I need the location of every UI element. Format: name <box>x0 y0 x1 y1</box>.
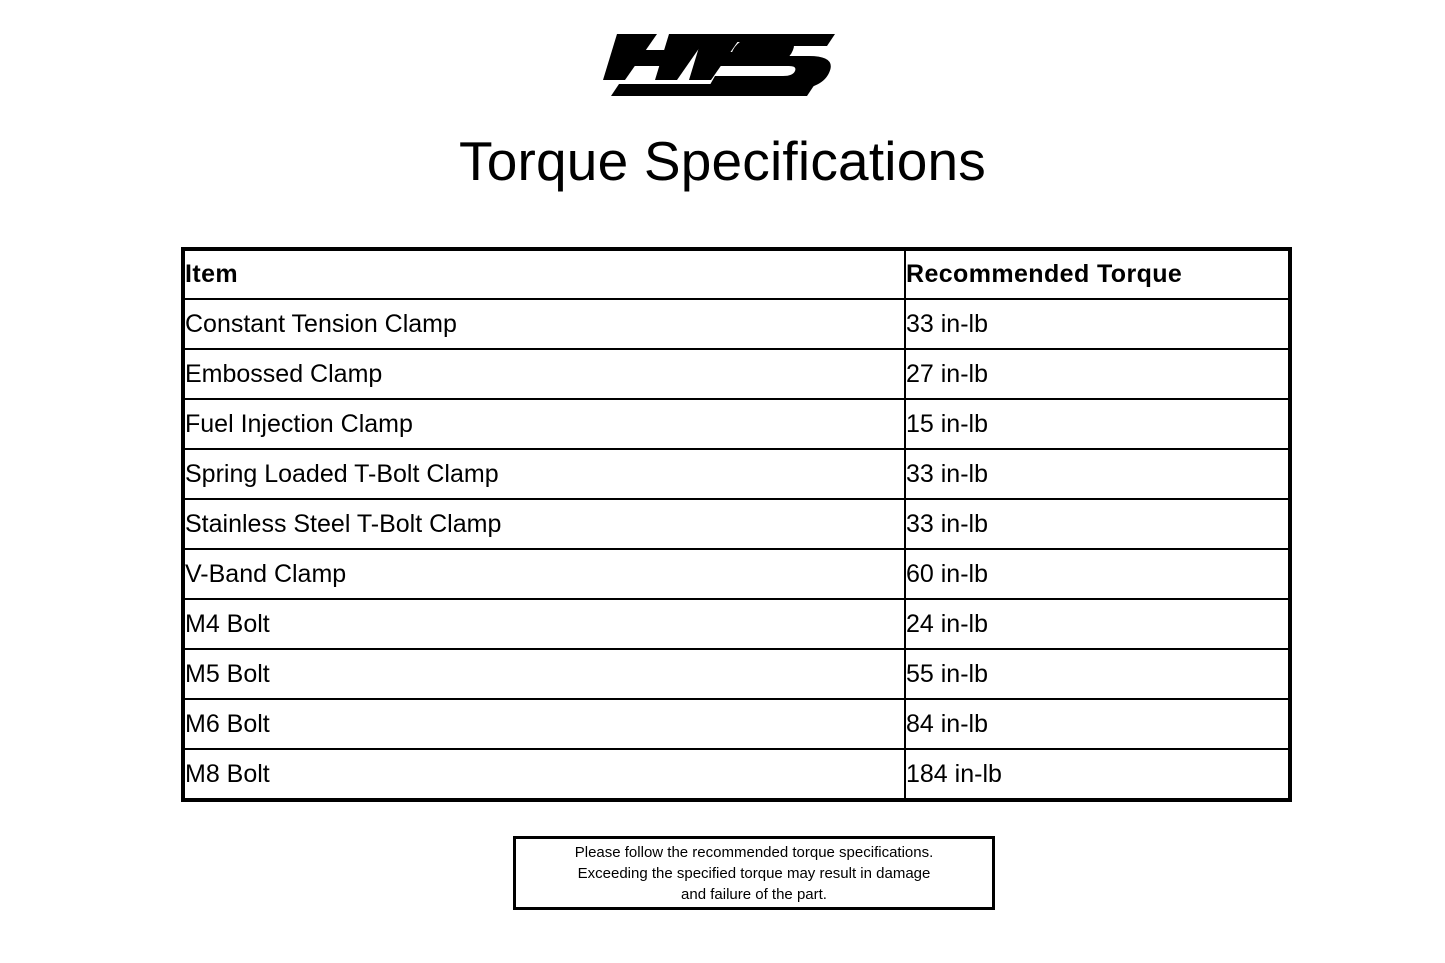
table-header-row: Item Recommended Torque <box>183 249 1290 299</box>
note-line: and failure of the part. <box>681 884 827 905</box>
cell-item: M4 Bolt <box>183 599 905 649</box>
cell-torque: 33 in-lb <box>905 499 1290 549</box>
cell-item: Constant Tension Clamp <box>183 299 905 349</box>
cell-torque: 84 in-lb <box>905 699 1290 749</box>
table-row: M4 Bolt 24 in-lb <box>183 599 1290 649</box>
table-row: Constant Tension Clamp 33 in-lb <box>183 299 1290 349</box>
warning-note-box: Please follow the recommended torque spe… <box>513 836 995 910</box>
cell-torque: 60 in-lb <box>905 549 1290 599</box>
table-row: Stainless Steel T-Bolt Clamp 33 in-lb <box>183 499 1290 549</box>
table-row: Spring Loaded T-Bolt Clamp 33 in-lb <box>183 449 1290 499</box>
cell-item: M6 Bolt <box>183 699 905 749</box>
column-header-item: Item <box>183 249 905 299</box>
cell-item: Embossed Clamp <box>183 349 905 399</box>
cell-torque: 55 in-lb <box>905 649 1290 699</box>
table-row: M6 Bolt 84 in-lb <box>183 699 1290 749</box>
cell-torque: 33 in-lb <box>905 299 1290 349</box>
table-row: M8 Bolt 184 in-lb <box>183 749 1290 800</box>
cell-torque: 24 in-lb <box>905 599 1290 649</box>
table-row: M5 Bolt 55 in-lb <box>183 649 1290 699</box>
table-body: Constant Tension Clamp 33 in-lb Embossed… <box>183 299 1290 800</box>
cell-item: M8 Bolt <box>183 749 905 800</box>
brand-logo <box>0 28 1445 116</box>
note-line: Exceeding the specified torque may resul… <box>578 863 931 884</box>
hps-logo-icon <box>603 28 843 98</box>
column-header-torque: Recommended Torque <box>905 249 1290 299</box>
table-row: Fuel Injection Clamp 15 in-lb <box>183 399 1290 449</box>
torque-specifications-table: Item Recommended Torque Constant Tension… <box>181 247 1292 802</box>
cell-torque: 27 in-lb <box>905 349 1290 399</box>
cell-torque: 184 in-lb <box>905 749 1290 800</box>
cell-item: Fuel Injection Clamp <box>183 399 905 449</box>
table-row: Embossed Clamp 27 in-lb <box>183 349 1290 399</box>
table-row: V-Band Clamp 60 in-lb <box>183 549 1290 599</box>
cell-torque: 15 in-lb <box>905 399 1290 449</box>
page-title: Torque Specifications <box>0 128 1445 194</box>
torque-table-container: Item Recommended Torque Constant Tension… <box>181 247 1288 802</box>
note-line: Please follow the recommended torque spe… <box>575 842 934 863</box>
cell-item: Stainless Steel T-Bolt Clamp <box>183 499 905 549</box>
cell-item: M5 Bolt <box>183 649 905 699</box>
cell-torque: 33 in-lb <box>905 449 1290 499</box>
cell-item: V-Band Clamp <box>183 549 905 599</box>
cell-item: Spring Loaded T-Bolt Clamp <box>183 449 905 499</box>
